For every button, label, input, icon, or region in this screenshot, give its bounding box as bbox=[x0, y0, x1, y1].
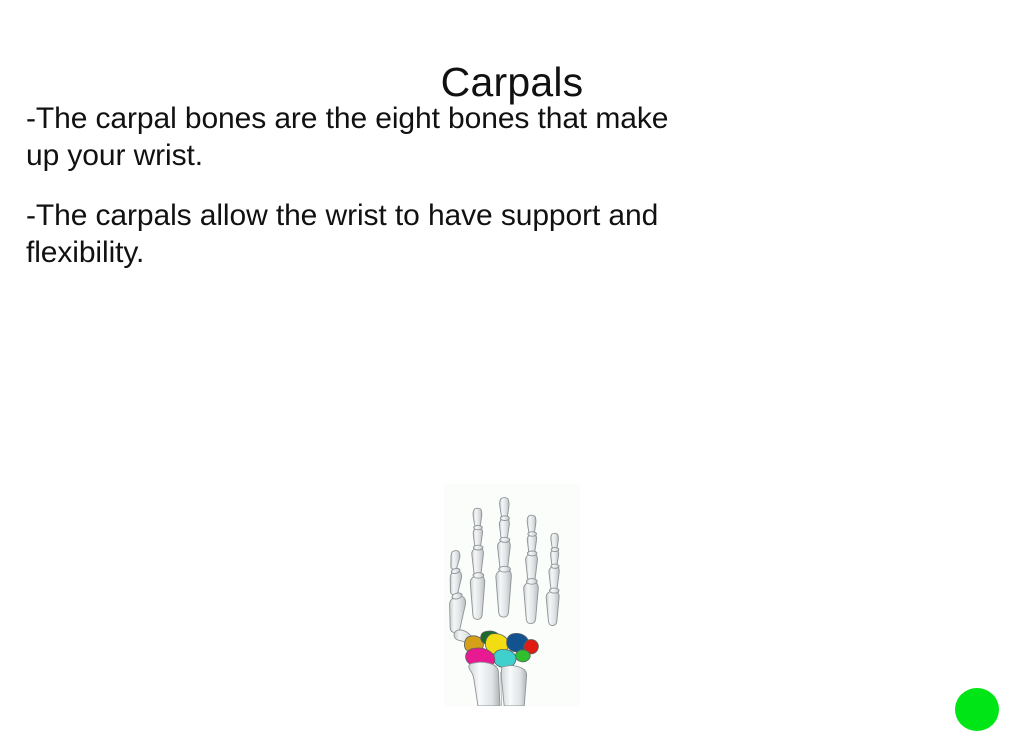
carpal-lunate bbox=[493, 649, 516, 667]
hand-skeleton-icon bbox=[444, 484, 580, 706]
page-title: Carpals bbox=[0, 60, 1024, 105]
slide-canvas: Carpals -The carpal bones are the eight … bbox=[0, 0, 1024, 748]
hand-skeleton-image bbox=[444, 484, 580, 706]
list-item: -The carpals allow the wrist to have sup… bbox=[26, 198, 706, 271]
status-badge[interactable] bbox=[955, 688, 999, 731]
list-item: -The carpal bones are the eight bones th… bbox=[26, 101, 706, 174]
carpal-triquetrum bbox=[516, 650, 531, 662]
bullet-list: -The carpal bones are the eight bones th… bbox=[26, 101, 706, 271]
